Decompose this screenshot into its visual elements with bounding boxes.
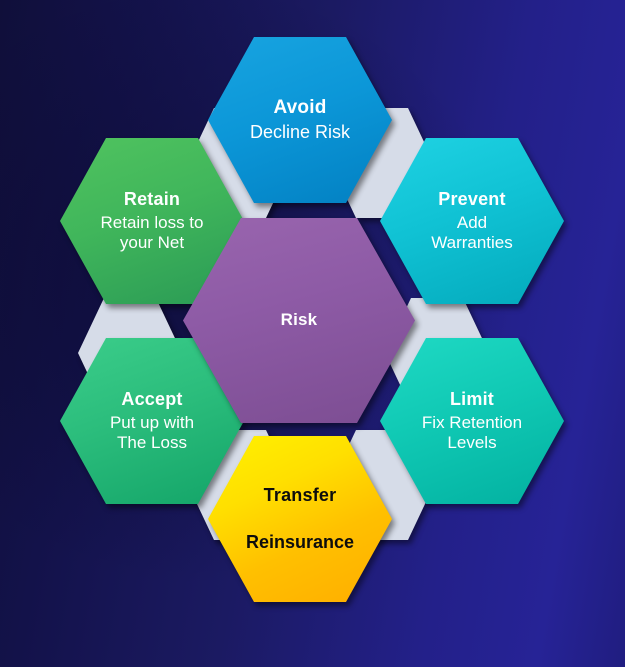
hex-prevent-title: Prevent: [400, 189, 544, 210]
hex-center-title: Risk: [209, 310, 390, 330]
hex-limit-title: Limit: [400, 389, 544, 410]
hex-accept-subtitle-line2: The Loss: [80, 433, 224, 453]
hex-prevent-subtitle-line2: Warranties: [400, 233, 544, 253]
hex-prevent-subtitle-line1: Add: [400, 213, 544, 233]
risk-hexagon-diagram: Avoid Decline Risk Prevent Add Warrantie…: [0, 0, 625, 667]
hex-avoid-title: Avoid: [228, 97, 372, 119]
hex-retain-title: Retain: [80, 189, 224, 210]
hex-limit-subtitle-line2: Levels: [400, 433, 544, 453]
hex-transfer-title: Transfer: [228, 485, 372, 506]
hex-limit-subtitle-line1: Fix Retention: [400, 413, 544, 433]
hex-transfer-subtitle: Reinsurance: [228, 532, 372, 553]
hex-node-center-risk[interactable]: Risk: [183, 218, 415, 423]
hex-avoid-subtitle: Decline Risk: [228, 122, 372, 143]
